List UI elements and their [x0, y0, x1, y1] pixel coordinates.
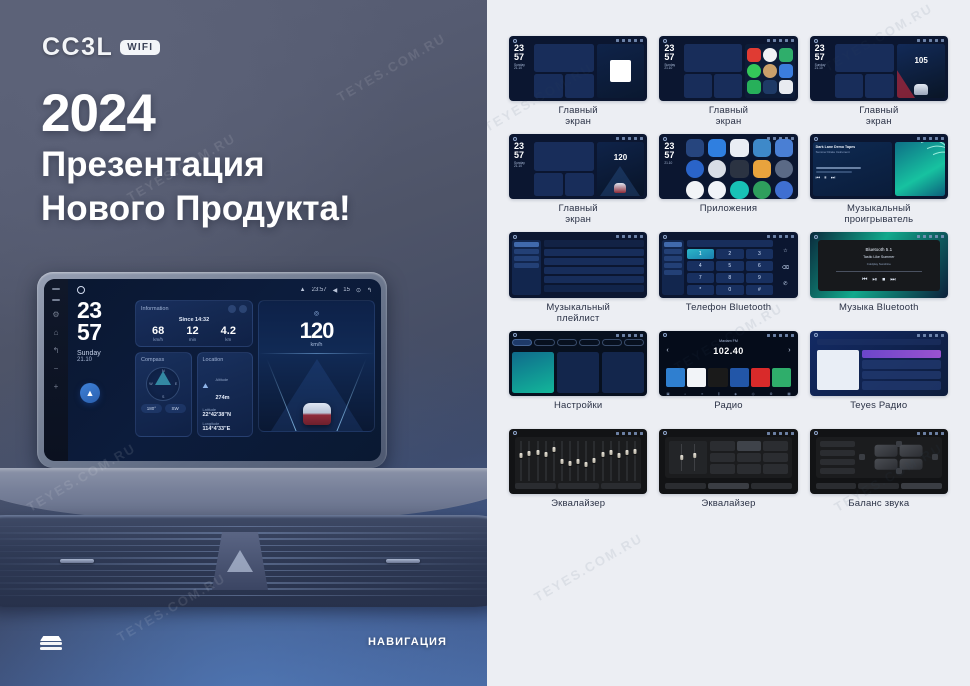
tab-wifi[interactable]: [512, 339, 532, 346]
screen-body: ▲ 23:57 ◀ 15 ⊙ ↰ 23 57: [68, 279, 381, 461]
home-icon: [513, 333, 517, 337]
compass-south-label: S: [162, 395, 164, 399]
eq-band[interactable]: [607, 441, 614, 481]
dialpad-key[interactable]: 3: [746, 249, 774, 259]
compass-readout: 180° SW: [141, 404, 186, 413]
gallery-caption: Главный экран: [859, 106, 898, 128]
balance-right-button[interactable]: [932, 454, 938, 460]
app-icon-clock[interactable]: [708, 160, 726, 178]
watermark: TEYES.COM.RU: [531, 530, 645, 604]
speed-value: 120: [300, 318, 334, 344]
gallery-caption: Главный экран: [559, 204, 598, 226]
gallery-item[interactable]: Bluetooth 5.1 Tastic Like Summer Coldpla…: [810, 232, 948, 324]
latitude-row: Latitude 22°42'38"N: [203, 408, 248, 418]
eq-band[interactable]: [575, 441, 582, 481]
thumbnail-home-drive[interactable]: 2357Sunday21.10 105: [810, 36, 948, 101]
balance-presets[interactable]: [820, 441, 855, 474]
headline-line-2: Нового Продукта!: [41, 189, 351, 229]
dialpad-key[interactable]: 9: [746, 273, 774, 283]
teyes-radio-tabs[interactable]: [817, 339, 941, 345]
home-icon: [513, 137, 517, 141]
horizon-line: [259, 353, 374, 354]
gallery-caption: Музыкальный плейлист: [546, 303, 610, 325]
compass-title: Compass: [141, 357, 186, 363]
rail-mute-icon[interactable]: [52, 299, 60, 301]
gallery-item[interactable]: Эквалайзер: [659, 429, 797, 521]
bt-artist: Coldplay Sunshine: [867, 262, 891, 266]
altitude-value: 274m: [216, 395, 230, 401]
compass-card[interactable]: Compass N S W E: [135, 352, 192, 437]
longitude-value: 114°4'33"E: [203, 426, 248, 432]
call-icon[interactable]: ✆: [783, 281, 787, 287]
music-transport-controls[interactable]: ⏮ ⏸ ⏭: [816, 175, 889, 181]
eq-icon[interactable]: ⫼: [718, 392, 720, 396]
status-right-group: ▲ 23:57 ◀ 15 ⊙ ↰: [300, 287, 372, 294]
playlist-tracks[interactable]: [544, 240, 644, 294]
fader-sliders[interactable]: [669, 441, 707, 474]
app-icon-music[interactable]: [730, 181, 748, 199]
thumbnail-home-apps[interactable]: 2357Sunday21.10: [659, 36, 797, 101]
thumbnail-home-nav[interactable]: 2357Sunday21.10 120: [509, 134, 647, 199]
thumbnail-settings[interactable]: [509, 331, 647, 396]
hero-headline: 2024 Презентация Нового Продукта!: [41, 87, 351, 228]
altitude-label: Altitude: [216, 378, 229, 382]
home-icon: [663, 39, 667, 43]
trip-stat: 4.2 km: [221, 325, 236, 342]
compass-east-label: E: [175, 382, 177, 386]
thumbnail-home-media[interactable]: 2357Sunday21.10: [509, 36, 647, 101]
speed-unit: km/h: [311, 342, 323, 348]
app-icon-filemanager[interactable]: [753, 160, 771, 178]
gallery-item[interactable]: 2357Sunday21.10: [659, 36, 797, 128]
altitude-group: Altitude 274m: [216, 368, 230, 404]
logo-model: CC3L: [42, 33, 113, 62]
playlist-sidebar[interactable]: [512, 240, 541, 294]
logo-wifi-badge: WIFI: [120, 40, 160, 55]
dialpad[interactable]: 1 2 3 4 5 6 7 8 9 * 0 #: [687, 249, 774, 294]
stat-unit: min: [186, 337, 198, 342]
gallery-item[interactable]: Эквалайзер: [509, 429, 647, 521]
prev-icon[interactable]: ⏮: [816, 175, 821, 181]
app-icon-gallery[interactable]: [775, 160, 793, 178]
gallery-caption: Эквалайзер: [551, 499, 605, 521]
hero-panel: CC3L WIFI 2024 Презентация Нового Продук…: [0, 0, 487, 686]
rail-volume-up-icon[interactable]: +: [52, 382, 61, 391]
thumbnail-teyes-radio[interactable]: [810, 331, 948, 396]
app-icon-wifi[interactable]: [686, 139, 704, 157]
bt-music-panel: Bluetooth 5.1 Tastic Like Summer Coldpla…: [818, 240, 940, 290]
app-grid[interactable]: [684, 142, 794, 196]
dialpad-key[interactable]: 1: [687, 249, 715, 259]
search-icon[interactable]: ⌕: [684, 392, 686, 396]
app-icon-playstore[interactable]: [753, 181, 771, 199]
preset-button[interactable]: [763, 441, 788, 451]
eq-band[interactable]: [632, 441, 639, 481]
preset-station[interactable]: [666, 368, 685, 387]
station-row[interactable]: [862, 360, 941, 369]
backspace-icon[interactable]: ⌫: [782, 265, 789, 271]
eq-band[interactable]: [534, 441, 541, 481]
radio-presets[interactable]: [666, 368, 790, 387]
info-widgets-column: Information Since 14:32: [135, 300, 253, 432]
clock-weekday: Sunday: [77, 350, 130, 357]
music-info-pane: Dark Lane Demo Tapes Summer Drake Instru…: [813, 142, 892, 196]
preset-button[interactable]: [710, 464, 734, 474]
gallery-item[interactable]: 235721.10: [659, 134, 797, 226]
eq-band[interactable]: [624, 441, 631, 481]
navigation-label: НАВИГАЦИЯ: [368, 636, 447, 648]
home-icon: [513, 235, 517, 239]
station-list[interactable]: [862, 350, 941, 390]
bt-track-title: Tastic Like Summer: [863, 255, 894, 259]
secondary-widgets-row: Compass N S W E: [135, 352, 253, 437]
app-icon-chrome[interactable]: [686, 160, 704, 178]
dashboard-trim: [0, 468, 487, 520]
rail-back-icon[interactable]: ↰: [52, 346, 61, 355]
thumbnail-equalizer-presets[interactable]: [659, 429, 797, 494]
eq-band[interactable]: [616, 441, 623, 481]
gallery-caption: Музыка Bluetooth: [839, 303, 919, 325]
dialpad-key[interactable]: 0: [716, 285, 744, 295]
dialpad-key[interactable]: 6: [746, 261, 774, 271]
equalizer-footer-tabs[interactable]: [665, 483, 791, 489]
eq-band[interactable]: [559, 441, 566, 481]
gallery-item[interactable]: 2357Sunday21.10 105 Главный экран: [810, 36, 948, 128]
headline-line-1: Презентация: [41, 145, 351, 185]
home-icon: [814, 431, 818, 435]
station-row[interactable]: [862, 350, 941, 359]
thumbnail-bt-phone[interactable]: 1 2 3 4 5 6 7 8 9 * 0 #: [659, 232, 797, 297]
stat-value: 12: [186, 325, 198, 337]
trip-stat: 12 min: [186, 325, 198, 342]
wifi-icon: ▲: [300, 287, 306, 293]
preset-button[interactable]: [737, 453, 761, 463]
gallery-caption: Главный экран: [559, 106, 598, 128]
thumbnail-radio[interactable]: Maxiam FM ‹ 102.40 ›: [659, 331, 797, 396]
radio-bottom-bar[interactable]: ▣⌕ ≡⫼ ◈◎ ⚙▦: [666, 392, 790, 396]
bt-version-label: Bluetooth 5.1: [866, 247, 893, 252]
home-icon: [663, 333, 667, 337]
stat-unit: km: [221, 337, 236, 342]
eq-band[interactable]: [551, 441, 558, 481]
rail-settings-icon[interactable]: ⚙: [52, 310, 61, 319]
headline-year: 2024: [41, 87, 351, 141]
trip-stats: 68 km/h 12 min 4.2: [141, 325, 247, 342]
latitude-value: 22°42'38"N: [203, 412, 248, 418]
eq-band[interactable]: [542, 441, 549, 481]
volume-indicator: ◀: [333, 287, 338, 294]
home-icon: [513, 39, 517, 43]
app-icon-calculator[interactable]: [753, 139, 771, 157]
air-vent-assembly: [0, 515, 487, 607]
music-visual-pane: [895, 142, 945, 196]
home-icon[interactable]: [77, 286, 85, 294]
compass-cone-icon: [155, 371, 171, 385]
eq-band[interactable]: [599, 441, 606, 481]
car-model-graphic: [303, 403, 331, 425]
play-pause-icon[interactable]: ⏯: [872, 277, 877, 284]
home-icon: [814, 235, 818, 239]
expand-icon[interactable]: [239, 305, 247, 313]
rail-volume-down-icon[interactable]: −: [52, 364, 61, 373]
gallery-caption: Главный экран: [709, 106, 748, 128]
gear-icon[interactable]: ⊙: [356, 287, 361, 294]
phone-dialer[interactable]: 1 2 3 4 5 6 7 8 9 * 0 #: [687, 240, 774, 294]
music-track-title: Dark Lane Demo Tapes: [816, 145, 889, 149]
balance-pad-area[interactable]: [859, 441, 938, 474]
thumb-speed-value: 120: [614, 153, 627, 162]
dialpad-key[interactable]: 4: [687, 261, 715, 271]
compass-west-label: W: [149, 382, 152, 386]
location-title: Location: [203, 357, 248, 363]
head-unit-screen[interactable]: ⚙ ⌂ ↰ − + ▲ 23:57 ◀ 15: [44, 279, 381, 461]
volume-value: 15: [343, 287, 350, 293]
app-icon-radio[interactable]: [775, 181, 793, 199]
pane-carplay[interactable]: [557, 352, 599, 393]
eq-band[interactable]: [518, 441, 525, 481]
thumbnail-bt-music[interactable]: Bluetooth 5.1 Tastic Like Summer Coldpla…: [810, 232, 948, 297]
dialpad-key[interactable]: #: [746, 285, 774, 295]
vent-blade-left[interactable]: [60, 559, 94, 563]
gallery-item[interactable]: 2357Sunday21.10 120 Главный экран: [509, 134, 647, 226]
clock-minutes: 57: [77, 322, 130, 344]
compass-direction: SW: [165, 404, 186, 413]
dialpad-key[interactable]: 5: [716, 261, 744, 271]
dialpad-key[interactable]: *: [687, 285, 715, 295]
home-icon: [663, 235, 667, 239]
band-icon[interactable]: ▣: [666, 392, 669, 396]
gallery-item[interactable]: Настройки: [509, 331, 647, 423]
thumbnail-music-player[interactable]: Dark Lane Demo Tapes Summer Drake Instru…: [810, 134, 948, 199]
screens-gallery: 2357Sunday21.10 Главный экран 2357Sund: [487, 0, 970, 686]
rail-power-icon[interactable]: [52, 288, 60, 290]
fader-slider[interactable]: [694, 444, 695, 471]
list-icon[interactable]: ≡: [701, 392, 703, 396]
settings-icon[interactable]: ⚙: [769, 392, 772, 396]
clock-date: 21.10: [77, 357, 130, 363]
pane-more[interactable]: [602, 352, 644, 393]
gallery-caption: Телефон Bluetooth: [686, 303, 772, 325]
next-icon[interactable]: ⏭: [890, 277, 895, 284]
trip-since-label: Since 14:32: [141, 317, 247, 323]
home-icon: [814, 39, 818, 43]
altitude-row: ⛰ Altitude 274m: [203, 368, 248, 404]
home-icon: [814, 333, 818, 337]
drive-view-widget[interactable]: ◎ 120 km/h: [258, 300, 375, 432]
gallery-caption: Настройки: [554, 401, 602, 423]
rds-icon[interactable]: ◈: [734, 392, 737, 396]
phone-actions[interactable]: ☆ ⌫ ✆: [776, 240, 795, 294]
gallery-item[interactable]: Maxiam FM ‹ 102.40 ›: [659, 331, 797, 423]
preset-button[interactable]: [710, 441, 734, 451]
rail-home-icon[interactable]: ⌂: [52, 328, 61, 337]
information-header: Information: [141, 305, 247, 313]
app-icon-camera[interactable]: [775, 139, 793, 157]
presentation-page: CC3L WIFI 2024 Презентация Нового Продук…: [0, 0, 970, 686]
gallery-item[interactable]: 1 2 3 4 5 6 7 8 9 * 0 #: [659, 232, 797, 324]
preset-button[interactable]: [710, 453, 734, 463]
gallery-caption: Баланс звука: [848, 499, 909, 521]
radio-frequency: 102.40: [713, 346, 744, 356]
gallery-caption: Эквалайзер: [701, 499, 755, 521]
app-icon-dvr[interactable]: [730, 160, 748, 178]
hero-footer: НАВИГАЦИЯ: [0, 600, 487, 686]
compass-dial: N S W E: [146, 367, 180, 401]
teyes-radio-body: [817, 350, 941, 390]
app-icon-maps[interactable]: [708, 181, 726, 199]
next-icon[interactable]: ⏭: [831, 175, 836, 181]
gallery-item[interactable]: 2357Sunday21.10 Главный экран: [509, 36, 647, 128]
tab-display[interactable]: [557, 339, 577, 346]
eq-band[interactable]: [591, 441, 598, 481]
bt-transport-controls[interactable]: ⏮ ⏯ ⏹ ⏭: [862, 277, 896, 284]
screen-side-rail[interactable]: ⚙ ⌂ ↰ − +: [44, 279, 68, 461]
preset-station[interactable]: [751, 368, 770, 387]
preset-station[interactable]: [687, 368, 706, 387]
tune-down-icon[interactable]: ‹: [666, 347, 668, 354]
location-card[interactable]: Location ⛰ Altitude 274m: [197, 352, 254, 437]
gallery-caption: Приложения: [700, 204, 758, 226]
mountain-icon: ⛰: [203, 383, 212, 390]
gallery-caption: Teyes Радио: [850, 401, 907, 423]
preset-station[interactable]: [708, 368, 727, 387]
trip-stat: 68 km/h: [152, 325, 164, 342]
gallery-grid: 2357Sunday21.10 Главный экран 2357Sund: [509, 36, 948, 521]
gallery-item[interactable]: Музыкальный плейлист: [509, 232, 647, 324]
clock-widget: 23 57 Sunday 21.10 ▲: [74, 300, 130, 432]
preset-station[interactable]: [730, 368, 749, 387]
preset-station[interactable]: [772, 368, 791, 387]
gallery-item[interactable]: Dark Lane Demo Tapes Summer Drake Instru…: [810, 134, 948, 226]
information-card[interactable]: Information Since 14:32: [135, 300, 253, 347]
gallery-caption: Радио: [714, 401, 742, 423]
balance-left-button[interactable]: [859, 454, 865, 460]
thumbnail-apps[interactable]: 235721.10: [659, 134, 797, 199]
app-icon-google[interactable]: [686, 181, 704, 199]
loc-icon[interactable]: ◎: [752, 392, 755, 396]
status-bar: ▲ 23:57 ◀ 15 ⊙ ↰: [74, 284, 375, 296]
dialpad-key[interactable]: 8: [716, 273, 744, 283]
product-logo: CC3L WIFI: [42, 33, 160, 62]
stop-icon[interactable]: ⏹: [882, 277, 885, 284]
pane-wifi[interactable]: [512, 352, 554, 393]
radio-tuner-row[interactable]: ‹ 102.40 ›: [666, 346, 790, 356]
thumbnail-sound-balance[interactable]: [810, 429, 948, 494]
prev-icon[interactable]: ⏮: [862, 277, 867, 284]
hazard-triangle-icon: [227, 550, 253, 572]
speed-icon: ◎: [314, 310, 319, 317]
watermark: TEYES.COM.RU: [334, 30, 448, 104]
home-widgets: 23 57 Sunday 21.10 ▲ Information: [74, 300, 375, 432]
information-title: Information: [141, 306, 169, 312]
equalizer-footer-tabs[interactable]: [515, 483, 641, 489]
preset-button[interactable]: [763, 453, 788, 463]
preset-button[interactable]: [737, 464, 761, 474]
tab-general[interactable]: [602, 339, 622, 346]
compass-heading: 180°: [141, 404, 162, 413]
equalizer-bands[interactable]: [515, 437, 641, 489]
radio-band-label: Maxiam FM: [666, 339, 790, 343]
gallery-item[interactable]: Баланс звука: [810, 429, 948, 521]
app-icon-bluetooth[interactable]: [708, 139, 726, 157]
eq-band[interactable]: [526, 441, 533, 481]
grid-icon[interactable]: ▦: [787, 392, 790, 396]
preset-button[interactable]: [737, 441, 761, 451]
home-icon: [663, 431, 667, 435]
dialpad-key[interactable]: 2: [716, 249, 744, 259]
gallery-item[interactable]: Teyes Радио: [810, 331, 948, 423]
album-art: [817, 350, 859, 390]
balance-seat-pad[interactable]: [874, 445, 923, 470]
longitude-row: Longitude 114°4'33"E: [203, 422, 248, 432]
car-dashboard: ⚙ ⌂ ↰ − + ▲ 23:57 ◀ 15: [0, 272, 487, 572]
phone-sidebar[interactable]: [662, 240, 683, 294]
eq-band[interactable]: [567, 441, 574, 481]
music-artist: Summer Drake Instrument: [816, 150, 889, 154]
star-icon[interactable]: ☆: [783, 248, 787, 254]
thumb-speed-value: 105: [914, 56, 927, 65]
sound-balance-panel[interactable]: [816, 437, 942, 478]
layers-icon: [40, 636, 62, 652]
vent-blade-right[interactable]: [386, 559, 420, 563]
app-icon-bt-music[interactable]: [730, 139, 748, 157]
fader-slider[interactable]: [681, 444, 682, 471]
status-time: 23:57: [312, 287, 327, 293]
back-icon[interactable]: ↰: [367, 287, 372, 294]
station-row[interactable]: [862, 371, 941, 380]
tab-apps[interactable]: [579, 339, 599, 346]
equalizer-presets-panel[interactable]: [665, 437, 791, 478]
preset-button[interactable]: [763, 464, 788, 474]
head-unit-bezel: ⚙ ⌂ ↰ − + ▲ 23:57 ◀ 15: [37, 272, 387, 468]
stat-value: 68: [152, 325, 164, 337]
home-icon: [814, 137, 818, 141]
refresh-icon[interactable]: [228, 305, 236, 313]
stat-unit: km/h: [152, 337, 164, 342]
preset-grid[interactable]: [710, 441, 787, 474]
settings-tabs[interactable]: [512, 339, 644, 346]
tune-up-icon[interactable]: ›: [788, 347, 790, 354]
eq-band[interactable]: [583, 441, 590, 481]
dialpad-key[interactable]: 7: [687, 273, 715, 283]
balance-footer-tabs[interactable]: [816, 483, 942, 489]
home-icon: [663, 137, 667, 141]
stat-value: 4.2: [221, 325, 236, 337]
tab-system[interactable]: [624, 339, 644, 346]
compass-north-label: N: [162, 369, 165, 373]
tab-sound[interactable]: [534, 339, 554, 346]
thumbnail-equalizer-bands[interactable]: [509, 429, 647, 494]
home-icon: [513, 431, 517, 435]
information-actions[interactable]: [228, 305, 247, 313]
pause-icon[interactable]: ⏸: [824, 175, 827, 181]
thumbnail-playlist[interactable]: [509, 232, 647, 297]
gallery-caption: Музыкальный проигрыватель: [844, 204, 913, 226]
navigation-arrow-icon[interactable]: ▲: [80, 383, 100, 403]
station-row[interactable]: [862, 381, 941, 390]
settings-panes[interactable]: [512, 352, 644, 393]
